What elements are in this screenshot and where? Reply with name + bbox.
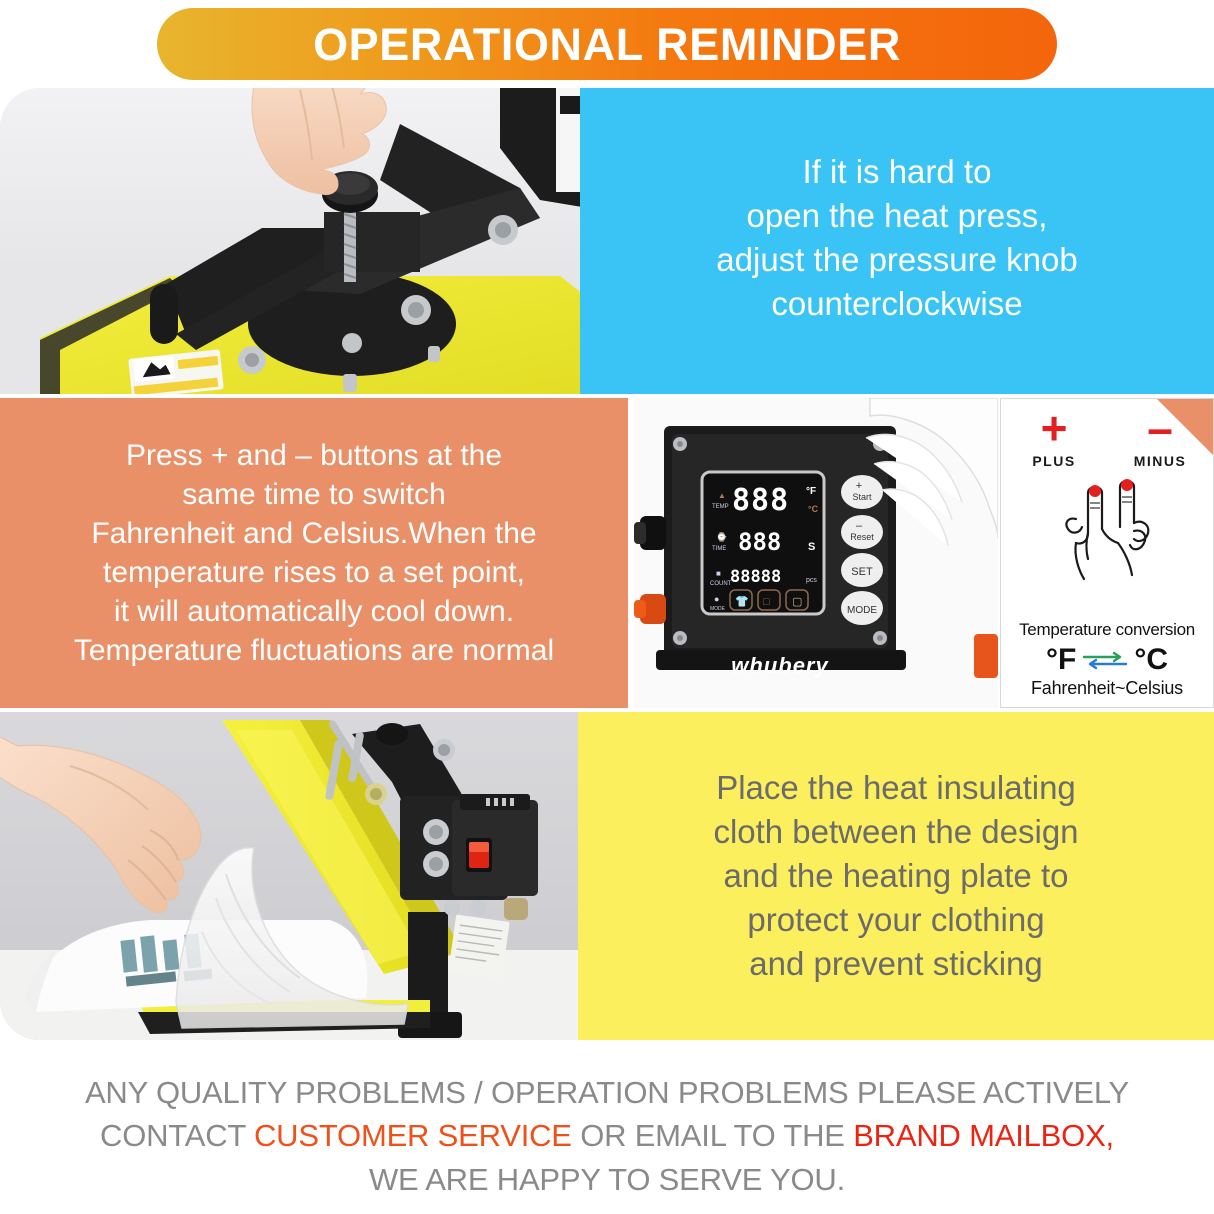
footer-line-2-middle: OR EMAIL TO THE: [572, 1118, 853, 1153]
conversion-block: Temperature conversion °F °C Fahrenheit~…: [1001, 620, 1213, 699]
svg-text:S: S: [808, 541, 815, 553]
svg-text:°F: °F: [806, 486, 816, 497]
footer-line-1: ANY QUALITY PROBLEMS / OPERATION PROBLEM…: [0, 1071, 1214, 1114]
svg-text:TEMP: TEMP: [712, 504, 729, 510]
tip-panel-temperature-units: Press + and – buttons at the same time t…: [0, 398, 628, 708]
footer-line-3: WE ARE HAPPY TO SERVE YOU.: [0, 1158, 1214, 1201]
svg-text:SET: SET: [851, 566, 873, 578]
minus-icon: –: [1147, 407, 1173, 451]
operational-reminder-page: OPERATIONAL REMINDER: [0, 0, 1214, 1214]
svg-text:whubery: whubery: [731, 653, 829, 678]
insulating-cloth-illustration: [0, 712, 580, 1040]
minus-label: MINUS: [1134, 453, 1187, 469]
minus-group: – MINUS: [1116, 407, 1204, 469]
svg-text:MODE: MODE: [847, 605, 877, 616]
page-title: OPERATIONAL REMINDER: [313, 22, 901, 67]
svg-text:COUNT: COUNT: [710, 581, 732, 587]
controller-illustration: ▲ TEMP 888 °F °C ⌚ TIME 888 S ■ COUNT 88…: [634, 398, 998, 708]
footer: ANY QUALITY PROBLEMS / OPERATION PROBLEM…: [0, 1055, 1214, 1214]
footer-line-2: CONTACT CUSTOMER SERVICE OR EMAIL TO THE…: [0, 1114, 1214, 1157]
plus-group: + PLUS: [1010, 407, 1098, 469]
svg-text:Reset: Reset: [850, 532, 874, 542]
exchange-arrows-icon: [1082, 650, 1128, 670]
svg-text:88888: 88888: [730, 567, 781, 587]
finger-tip-minus-dot: [1121, 479, 1133, 491]
conversion-units-row: °F °C: [1001, 643, 1213, 677]
svg-text:□: □: [763, 596, 770, 608]
conversion-subtitle: Fahrenheit~Celsius: [1001, 678, 1213, 699]
svg-text:MODE: MODE: [710, 606, 726, 612]
photo-controller: ▲ TEMP 888 °F °C ⌚ TIME 888 S ■ COUNT 88…: [634, 398, 998, 708]
two-finger-hand-holder: [1001, 471, 1213, 589]
svg-text:888: 888: [732, 483, 789, 518]
photo-pressure-knob: [0, 88, 588, 394]
unit-fahrenheit: °F: [1046, 643, 1076, 677]
conversion-title: Temperature conversion: [1001, 620, 1213, 640]
tip-row-1: If it is hard to open the heat press, ad…: [0, 88, 1214, 396]
photo-insulating-cloth: [0, 712, 580, 1040]
svg-text:👕: 👕: [735, 595, 749, 608]
brand-mailbox-link[interactable]: BRAND MAILBOX,: [853, 1118, 1114, 1153]
tip-row-2: Press + and – buttons at the same time t…: [0, 398, 1214, 710]
header: OPERATIONAL REMINDER: [0, 0, 1214, 88]
plus-label: PLUS: [1032, 453, 1075, 469]
svg-text:TIME: TIME: [712, 546, 726, 552]
svg-text:⌚: ⌚: [716, 531, 727, 542]
tip-text-temperature-units: Press + and – buttons at the same time t…: [74, 436, 554, 670]
svg-text:+: +: [856, 480, 862, 492]
temperature-conversion-diagram: + PLUS – MINUS: [1000, 398, 1214, 708]
tip-text-insulating-cloth: Place the heat insulating cloth between …: [713, 766, 1078, 985]
svg-text:–: –: [856, 520, 863, 532]
svg-text:Start: Start: [852, 492, 872, 502]
plus-minus-row: + PLUS – MINUS: [1001, 407, 1213, 469]
two-finger-hand-icon: [1042, 471, 1172, 589]
unit-celsius: °C: [1134, 643, 1168, 677]
header-pill: OPERATIONAL REMINDER: [157, 8, 1057, 80]
svg-text:●: ●: [714, 594, 719, 604]
tip-row-3: Place the heat insulating cloth between …: [0, 712, 1214, 1042]
tip-panel-pressure-knob: If it is hard to open the heat press, ad…: [580, 88, 1214, 394]
svg-text:▲: ▲: [718, 491, 726, 500]
tip-text-pressure-knob: If it is hard to open the heat press, ad…: [716, 150, 1077, 332]
svg-text:888: 888: [738, 528, 781, 556]
tip-panel-insulating-cloth: Place the heat insulating cloth between …: [578, 712, 1214, 1040]
svg-text:■: ■: [716, 569, 721, 578]
pressure-knob-illustration: [0, 88, 588, 394]
footer-line-2-prefix: CONTACT: [100, 1118, 254, 1153]
svg-text:pcs: pcs: [806, 577, 817, 584]
svg-text:▢: ▢: [792, 596, 802, 608]
finger-tip-plus-dot: [1089, 485, 1101, 497]
svg-text:°C: °C: [808, 504, 819, 514]
plus-icon: +: [1041, 407, 1068, 451]
customer-service-link[interactable]: CUSTOMER SERVICE: [254, 1118, 572, 1153]
